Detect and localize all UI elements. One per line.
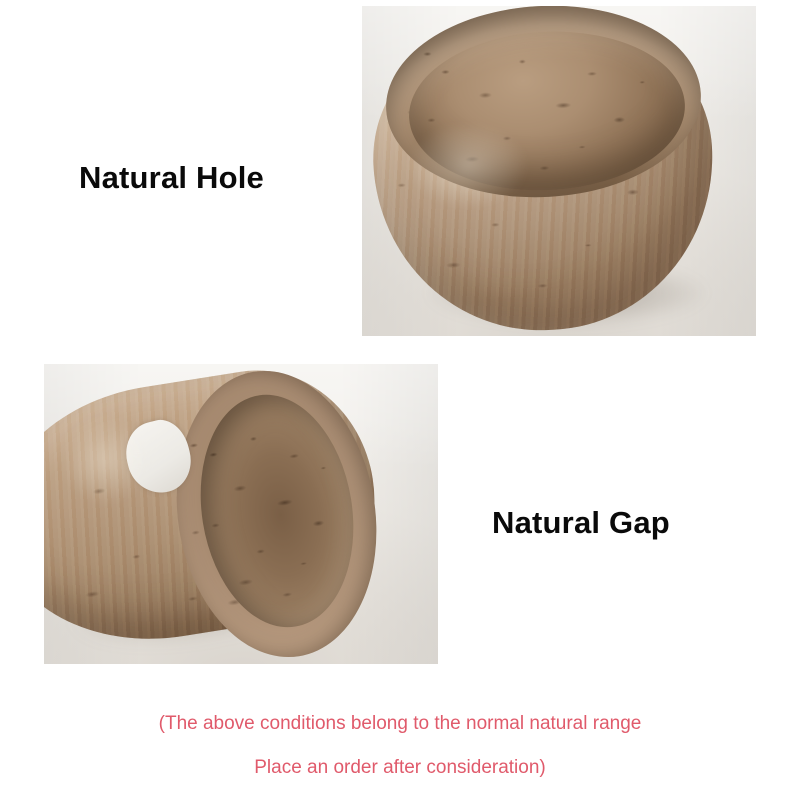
label-natural-gap: Natural Gap <box>492 505 670 541</box>
photo-natural-hole <box>362 6 756 336</box>
page-root: Natural Hole Natural Gap (The above cond… <box>0 0 800 800</box>
caption-line-2: Place an order after consideration) <box>0 757 800 779</box>
label-natural-hole: Natural Hole <box>79 160 264 196</box>
caption-line-1: (The above conditions belong to the norm… <box>0 713 800 735</box>
photo-natural-gap <box>44 364 438 664</box>
photo-natural-hole-content <box>362 6 756 336</box>
cylinder-highlight <box>52 412 170 532</box>
photo-natural-gap-content <box>44 364 438 664</box>
bowl-highlight <box>401 118 566 237</box>
